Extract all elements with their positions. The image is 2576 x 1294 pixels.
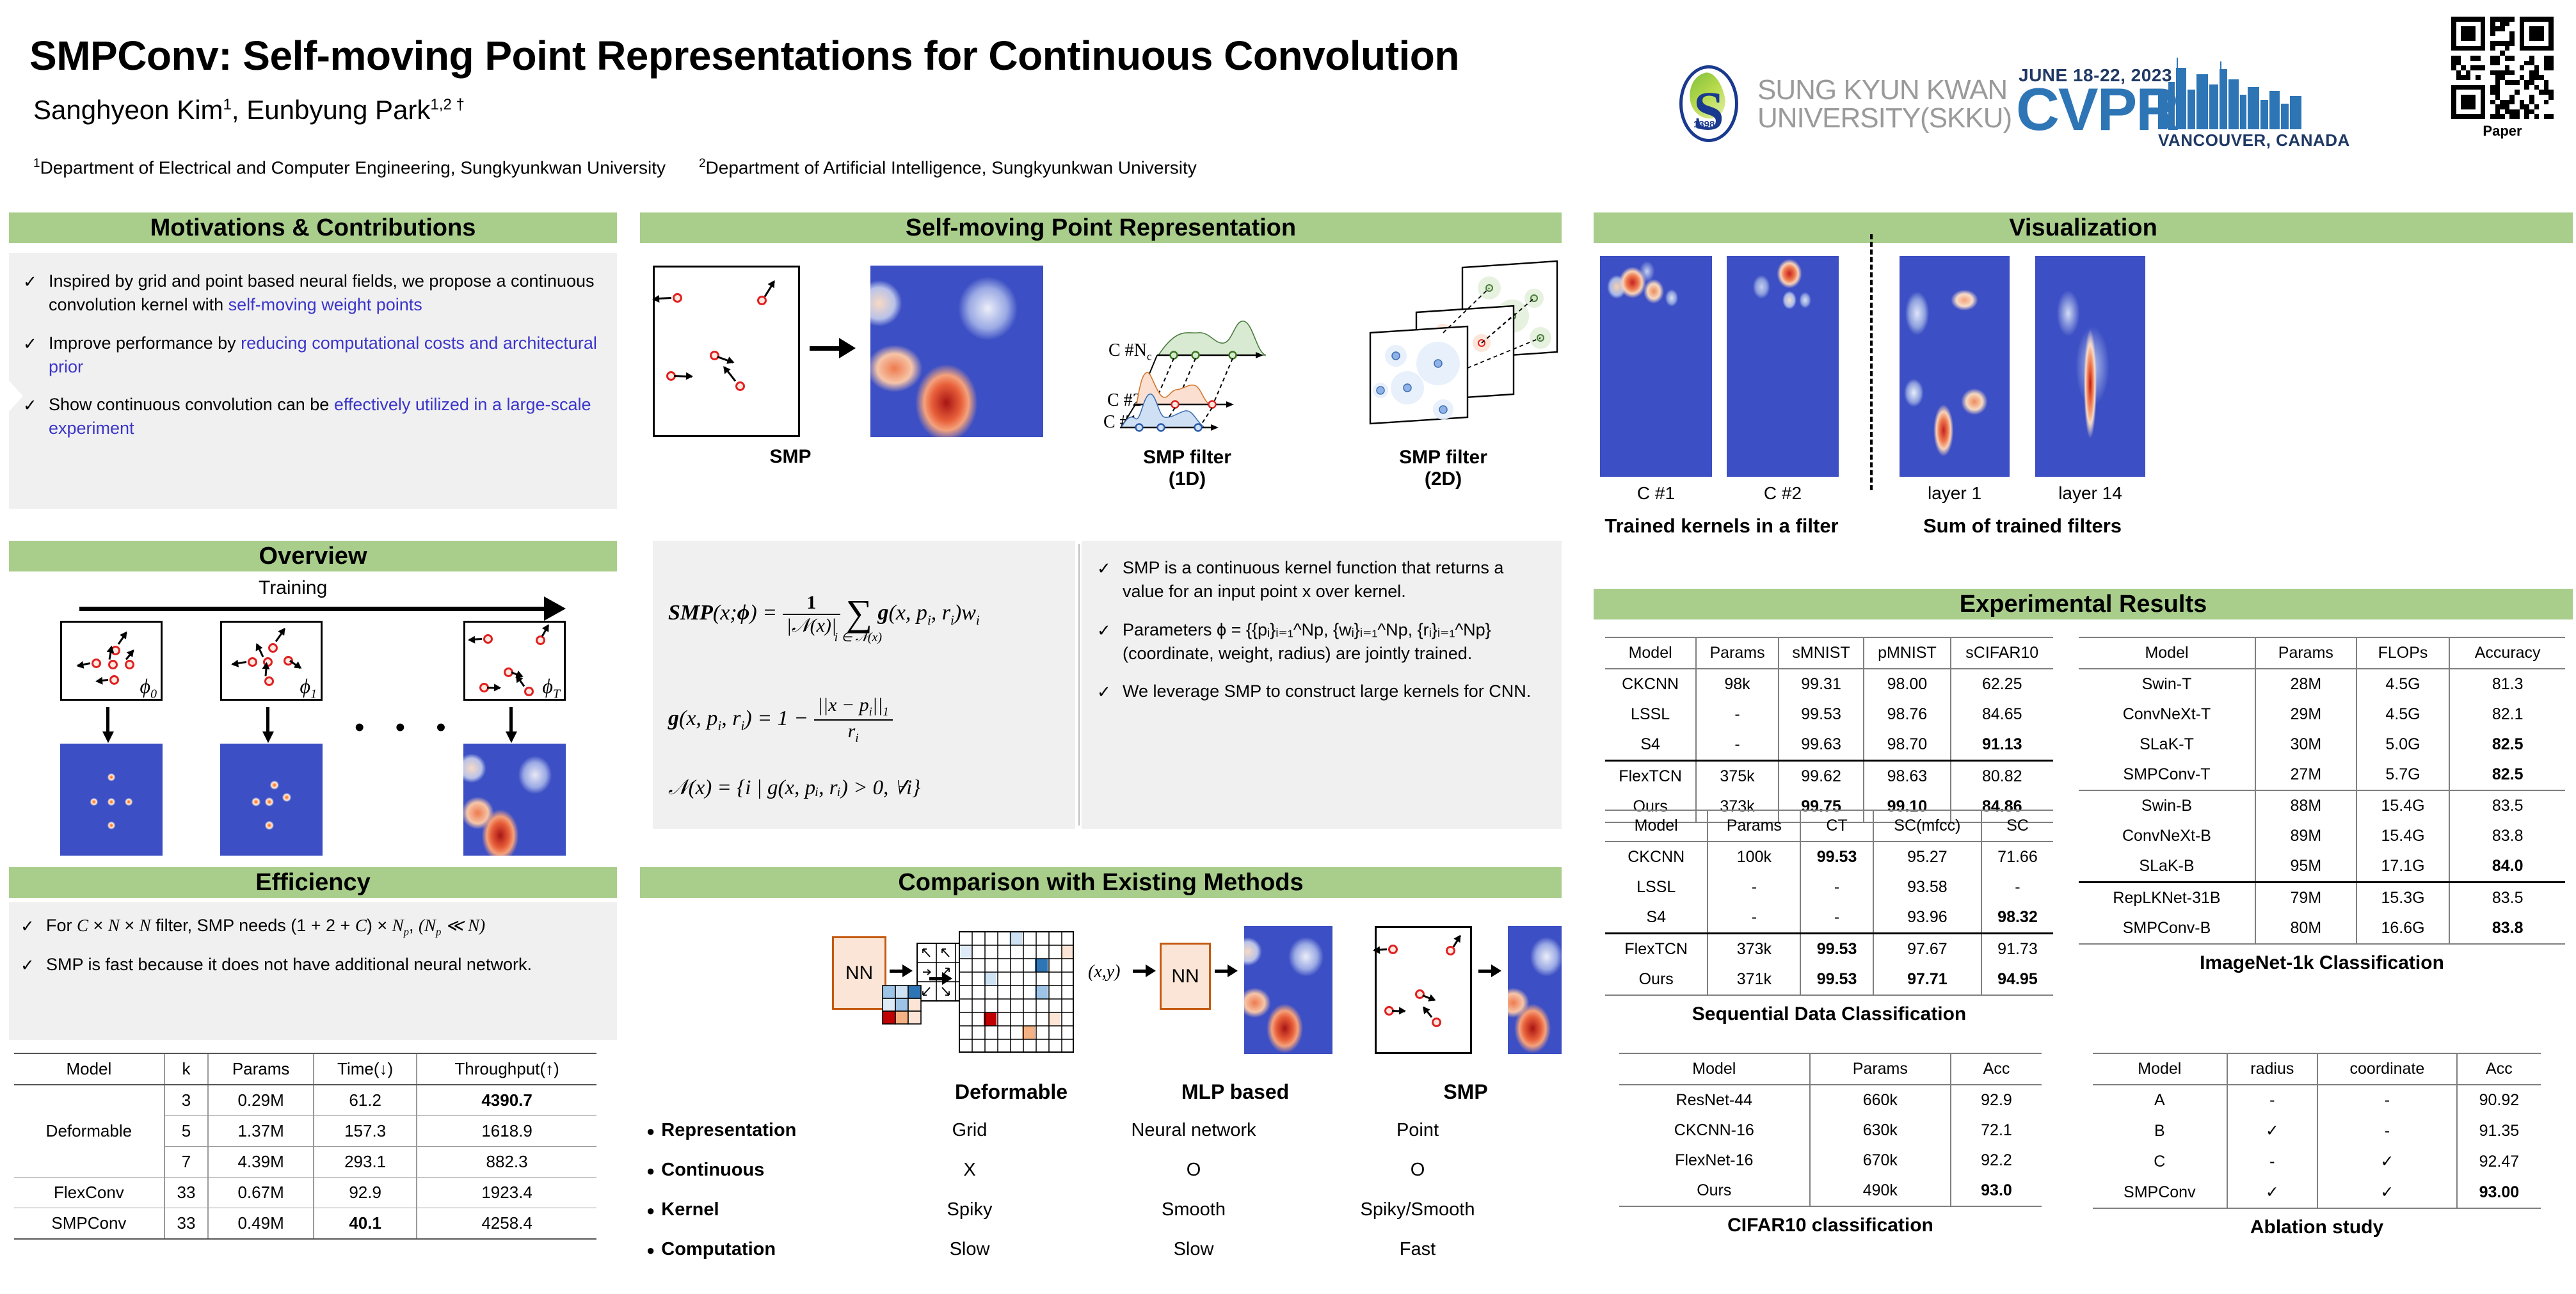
overview-points-phiT: ϕT: [463, 621, 566, 701]
table-cell: -: [1981, 872, 2053, 902]
table-header-row: ModelParamsFLOPsAccuracy: [2079, 637, 2565, 669]
checkmark-icon: ✓: [20, 914, 46, 939]
table-row: ConvNeXt-T29M4.5G82.1: [2079, 699, 2565, 730]
table-cell: 1923.4: [417, 1178, 596, 1208]
comparison-cell: Slow: [1082, 1239, 1306, 1260]
viz-kernel-c2: [1727, 256, 1839, 477]
cvpr-location: VANCOUVER, CANADA: [2158, 131, 2350, 150]
viz-caption-left: Trained kernels in a filter: [1594, 515, 1850, 538]
table-cell: -: [1696, 730, 1779, 761]
deformable-weight-grid-icon: [882, 985, 922, 1025]
table-cell: 157.3: [314, 1116, 417, 1147]
table-cell: 5: [164, 1116, 208, 1147]
checkmark-icon: ✓: [1097, 680, 1123, 704]
smp-bullet: ✓Parameters ϕ = {{pᵢ}ᵢ₌₁^Np, {wᵢ}ᵢ₌₁^Np,…: [1097, 618, 1546, 666]
author-2: , Eunbyung Park: [232, 95, 431, 125]
table-cell: SMPConv-T: [2079, 760, 2255, 790]
viz-label-c1: C #1: [1600, 483, 1712, 504]
table-row: Ours490k93.0: [1619, 1176, 2042, 1206]
section-header-efficiency: Efficiency: [9, 867, 617, 898]
smp-filter-1d-figure: C #Nc C #2 C #1 SMP filter (1D): [1107, 262, 1357, 474]
overview-kernel-phiT: [463, 744, 566, 856]
table-row: RepLKNet-31B79M15.3G83.5: [2079, 883, 2565, 914]
cifar-table-wrap: ModelParamsAcc ResNet-44660k92.9CKCNN-16…: [1619, 1053, 2042, 1236]
table-cell: SLaK-T: [2079, 730, 2255, 760]
comparison-cell: Neural network: [1082, 1120, 1306, 1141]
smp-compare-heatmap: [1508, 926, 1562, 1054]
cifar-table-caption: CIFAR10 classification: [1619, 1215, 2042, 1236]
affiliation-1: Department of Electrical and Computer En…: [40, 157, 666, 177]
overview-arrow-2: [266, 707, 269, 734]
comparison-row: ●ContinuousXOO: [646, 1150, 1562, 1190]
seq-table-2: ModelParamsCTSC(mfcc)SC CKCNN100k99.5395…: [1605, 810, 2053, 996]
table-cell: 100k: [1708, 842, 1800, 872]
table-row: ConvNeXt-B89M15.4G83.8: [2079, 821, 2565, 851]
table-cell: FlexConv: [14, 1178, 164, 1208]
table-header-cell: Params: [1696, 637, 1779, 669]
table-cell: 94.95: [1981, 964, 2053, 995]
table-cell: 83.5: [2449, 883, 2565, 914]
efficiency-table-wrap: ModelkParamsTime(↓)Throughput(↑) Deforma…: [14, 1053, 596, 1240]
ablation-table: ModelradiuscoordinateAcc A--90.92B✓-91.3…: [2093, 1053, 2541, 1209]
table-header-cell: Model: [14, 1053, 164, 1085]
table-cell: ✓: [2317, 1146, 2457, 1177]
overview-kernel-phi0: [60, 744, 163, 856]
table-cell: 882.3: [417, 1147, 596, 1178]
formula-divider: [1078, 544, 1080, 826]
comparison-cell: O: [1306, 1160, 1530, 1181]
table-cell: 30M: [2255, 730, 2356, 760]
comparison-row: ●ComputationSlowSlowFast: [646, 1229, 1562, 1269]
mlp-nn-box: NN: [1160, 943, 1211, 1010]
table-header-cell: Accuracy: [2449, 637, 2565, 669]
overview-kernel-phi1: [220, 744, 323, 856]
table-cell: 15.4G: [2356, 790, 2450, 821]
table-header-cell: Model: [2079, 637, 2255, 669]
equation-neighborhood: 𝒩(x) = {i | g(x, pᵢ, rᵢ) > 0, ∀i}: [668, 776, 920, 800]
imagenet-table: ModelParamsFLOPsAccuracy Swin-T28M4.5G81…: [2079, 637, 2565, 945]
comparison-cell: X: [858, 1160, 1082, 1181]
table-cell: CKCNN: [1605, 842, 1708, 872]
table-cell: 17.1G: [2356, 851, 2450, 883]
comparison-cell: Grid: [858, 1120, 1082, 1141]
section-header-overview: Overview: [9, 541, 617, 571]
table-cell: 490k: [1810, 1176, 1951, 1206]
table-cell: 1618.9: [417, 1116, 596, 1147]
efficiency-table: ModelkParamsTime(↓)Throughput(↑) Deforma…: [14, 1053, 596, 1240]
efficiency-bullet: ✓ SMP is fast because it does not have a…: [20, 953, 605, 977]
table-cell: 82.1: [2449, 699, 2565, 730]
ablation-table-caption: Ablation study: [2093, 1217, 2541, 1238]
table-cell: 72.1: [1951, 1115, 2042, 1146]
overview-points-phi0: ϕ0: [60, 621, 163, 701]
smp-filter-2d-label-1: SMP filter: [1360, 447, 1526, 468]
checkmark-icon: ✓: [1097, 618, 1123, 666]
efficiency-bullet-text: SMP is fast because it does not have add…: [46, 953, 605, 977]
checkmark-icon: ✓: [20, 953, 46, 977]
skku-name-line2: UNIVERSITY(SKKU): [1757, 104, 2012, 132]
skku-s-glyph: S: [1693, 83, 1724, 138]
table-cell: 79M: [2255, 883, 2356, 914]
section-header-experimental: Experimental Results: [1594, 589, 2573, 619]
comparison-matrix: ●RepresentationGridNeural networkPoint●C…: [646, 1110, 1562, 1269]
table-body: A--90.92B✓-91.35C-✓92.47SMPConv✓✓93.00: [2093, 1085, 2541, 1208]
table-cell: -: [2227, 1146, 2317, 1177]
qr-code-icon[interactable]: [2451, 17, 2554, 119]
table-header-cell: Model: [1619, 1053, 1810, 1085]
table-header-cell: Acc: [2457, 1053, 2541, 1085]
section-header-motivations: Motivations & Contributions: [9, 212, 617, 243]
table-cell: -: [2317, 1085, 2457, 1115]
table-header-cell: k: [164, 1053, 208, 1085]
table-cell: SLaK-B: [2079, 851, 2255, 883]
section-header-smp-representation: Self-moving Point Representation: [640, 212, 1562, 243]
table-cell: SMPConv-B: [2079, 913, 2255, 944]
comparison-cell: O: [1082, 1160, 1306, 1181]
viz-sum-layer1: [1900, 256, 2010, 477]
overview-ellipsis: • • •: [355, 712, 458, 744]
smp-filter-2d-figure: SMP filter (2D): [1354, 256, 1565, 474]
table-cell: SMPConv: [2093, 1177, 2227, 1208]
table-header-cell: CT: [1800, 810, 1873, 842]
table-cell: 98.32: [1981, 902, 2053, 934]
table-row: LSSL--93.58-: [1605, 872, 2053, 902]
table-header-cell: SC(mfcc): [1873, 810, 1981, 842]
table-cell: 16.6G: [2356, 913, 2450, 944]
smp-kernel-heatmap: [870, 266, 1043, 437]
smp-flow-arrow: [810, 346, 840, 351]
table-cell: 98.00: [1864, 669, 1950, 699]
table-row: CKCNN98k99.3198.0062.25: [1605, 669, 2053, 699]
skku-emblem-icon: S 1398: [1670, 64, 1747, 144]
motivations-box: ✓Inspired by grid and point based neural…: [9, 253, 617, 509]
paper-qr-block[interactable]: Paper: [2451, 17, 2554, 140]
table-cell: 82.5: [2449, 730, 2565, 760]
table-cell: 29M: [2255, 699, 2356, 730]
table-cell: 92.9: [1951, 1085, 2042, 1115]
table-cell: FlexTCN: [1605, 934, 1708, 965]
table-cell: 98.76: [1864, 699, 1950, 730]
table-body: Swin-T28M4.5G81.3ConvNeXt-T29M4.5G82.1SL…: [2079, 669, 2565, 944]
visualization-figures: C #1 C #2 layer 1 layer 14 Trained kerne…: [1594, 256, 2573, 550]
checkmark-icon: ✓: [23, 269, 49, 317]
motivation-bullet: ✓Show continuous convolution can be effe…: [23, 393, 603, 441]
table-cell: 3: [164, 1085, 208, 1116]
formula-panel: SMP(x;ϕ) = 1 |𝒩(x)| ∑ i ∈ 𝒩(x) g(x, pi, …: [653, 541, 1075, 829]
table-cell: Ours: [1605, 964, 1708, 995]
table-cell: 15.4G: [2356, 821, 2450, 851]
table-cell: RepLKNet-31B: [2079, 883, 2255, 914]
table-cell: 33: [164, 1178, 208, 1208]
table-cell: 84.65: [1951, 699, 2053, 730]
table-cell: 93.0: [1951, 1176, 2042, 1206]
table-cell: FlexNet-16: [1619, 1146, 1810, 1176]
page-title: SMPConv: Self-moving Point Representatio…: [29, 32, 1459, 79]
table-row: CKCNN100k99.5395.2771.66: [1605, 842, 2053, 872]
table-cell: 97.71: [1873, 964, 1981, 995]
qr-caption: Paper: [2451, 123, 2554, 140]
table-cell: 89M: [2255, 821, 2356, 851]
table-cell: 61.2: [314, 1085, 417, 1116]
seq-table-2-wrap: ModelParamsCTSC(mfcc)SC CKCNN100k99.5395…: [1605, 810, 2053, 1025]
comparison-col-label-smp: SMP: [1370, 1080, 1562, 1104]
table-row: S4-99.6398.7091.13: [1605, 730, 2053, 761]
equation-smp: SMP(x;ϕ) = 1 |𝒩(x)| ∑ i ∈ 𝒩(x) g(x, pi, …: [668, 592, 980, 637]
checkmark-icon: ✓: [23, 331, 49, 379]
smp-bullet-list: ✓SMP is a continuous kernel function tha…: [1082, 541, 1562, 719]
table-row: Swin-T28M4.5G81.3: [2079, 669, 2565, 699]
table-cell: 660k: [1810, 1085, 1951, 1115]
viz-label-layer14: layer 14: [2035, 483, 2145, 504]
table-row: Swin-B88M15.4G83.5: [2079, 790, 2565, 821]
table-header-row: ModelParamsAcc: [1619, 1053, 2042, 1085]
table-cell: B: [2093, 1115, 2227, 1146]
table-cell: 98.63: [1864, 761, 1950, 792]
table-header-cell: Throughput(↑): [417, 1053, 596, 1085]
table-cell: 93.96: [1873, 902, 1981, 934]
table-cell: LSSL: [1605, 872, 1708, 902]
smp-1d-curves: [1107, 262, 1357, 454]
table-cell: 95M: [2255, 851, 2356, 883]
comparison-cell: Spiky: [858, 1199, 1082, 1220]
table-cell: 83.5: [2449, 790, 2565, 821]
mlp-kernel-heatmap: [1244, 926, 1332, 1054]
table-row: LSSL-99.5398.7684.65: [1605, 699, 2053, 730]
table-cell: 99.53: [1800, 842, 1873, 872]
comparison-row-label: ●Representation: [646, 1120, 858, 1141]
table-cell: 375k: [1696, 761, 1779, 792]
table-row: S4--93.9698.32: [1605, 902, 2053, 934]
table-row: CKCNN-16630k72.1: [1619, 1115, 2042, 1146]
table-cell: Deformable: [14, 1085, 164, 1178]
table-cell: ConvNeXt-T: [2079, 699, 2255, 730]
comparison-row: ●RepresentationGridNeural networkPoint: [646, 1110, 1562, 1150]
table-cell: 84.0: [2449, 851, 2565, 883]
mlp-xy-label: (x,y): [1088, 962, 1121, 982]
table-cell: 15.3G: [2356, 883, 2450, 914]
table-header-row: ModelradiuscoordinateAcc: [2093, 1053, 2541, 1085]
table-cell: 81.3: [2449, 669, 2565, 699]
smp-filter-1d-label-1: SMP filter: [1107, 447, 1267, 468]
cvpr-wordmark: CVPR: [2016, 79, 2178, 140]
table-cell: S4: [1605, 730, 1696, 761]
table-cell: 80.82: [1951, 761, 2053, 792]
author-1-affil: 1: [223, 96, 232, 113]
table-row: C-✓92.47: [2093, 1146, 2541, 1177]
comparison-col-label-deformable: Deformable: [915, 1080, 1107, 1104]
table-cell: ✓: [2227, 1177, 2317, 1208]
table-cell: ✓: [2317, 1177, 2457, 1208]
viz-label-layer1: layer 1: [1900, 483, 2010, 504]
smp-properties-panel: ✓SMP is a continuous kernel function tha…: [1082, 541, 1562, 829]
checkmark-icon: ✓: [23, 393, 49, 441]
table-cell: CKCNN-16: [1619, 1115, 1810, 1146]
table-row: FlexNet-16670k92.2: [1619, 1146, 2042, 1176]
table-cell: -: [1696, 699, 1779, 730]
table-body: ResNet-44660k92.9CKCNN-16630k72.1FlexNet…: [1619, 1085, 2042, 1206]
table-cell: CKCNN: [1605, 669, 1696, 699]
comparison-row-label: ●Kernel: [646, 1199, 858, 1220]
table-header-cell: radius: [2227, 1053, 2317, 1085]
table-cell: 83.8: [2449, 913, 2565, 944]
table-cell: 91.13: [1951, 730, 2053, 761]
table-row: FlexConv330.67M92.91923.4: [14, 1178, 596, 1208]
comparison-cell: Point: [1306, 1120, 1530, 1141]
smp-filter-2d-label-2: (2D): [1360, 468, 1526, 490]
table-cell: 1.37M: [208, 1116, 314, 1147]
affil-2-marker: 2: [699, 157, 706, 170]
table-cell: 99.53: [1779, 699, 1864, 730]
table-row: SLaK-B95M17.1G84.0: [2079, 851, 2565, 883]
imagenet-table-caption: ImageNet-1k Classification: [2079, 952, 2565, 974]
table-body: CKCNN100k99.5395.2771.66LSSL--93.58-S4--…: [1605, 842, 2053, 995]
table-cell: 71.66: [1981, 842, 2053, 872]
affiliations-line: 1Department of Electrical and Computer E…: [33, 157, 1197, 178]
table-cell: 4258.4: [417, 1208, 596, 1240]
table-cell: 99.53: [1800, 964, 1873, 995]
table-header-cell: Model: [2093, 1053, 2227, 1085]
section-header-visualization: Visualization: [1594, 212, 2573, 243]
table-row: Deformable30.29M61.24390.7: [14, 1085, 596, 1116]
smp-compare-points: [1375, 926, 1472, 1054]
skku-name-line1: SUNG KYUN KWAN: [1757, 76, 2012, 104]
table-row: SMPConv-B80M16.6G83.8: [2079, 913, 2565, 944]
table-header-cell: pMNIST: [1864, 637, 1950, 669]
overview-figure: Training ϕ0 ϕ1 • • •: [9, 576, 617, 858]
checkmark-icon: ✓: [1097, 556, 1123, 604]
table-cell: 88M: [2255, 790, 2356, 821]
table-cell: 5.0G: [2356, 730, 2450, 760]
table-row: FlexTCN375k99.6298.6380.82: [1605, 761, 2053, 792]
affiliation-2: Department of Artificial Intelligence, S…: [706, 157, 1197, 177]
table-header-cell: coordinate: [2317, 1053, 2457, 1085]
viz-label-c2: C #2: [1727, 483, 1839, 504]
table-cell: 0.67M: [208, 1178, 314, 1208]
table-header-cell: Params: [1708, 810, 1800, 842]
table-cell: 0.49M: [208, 1208, 314, 1240]
table-header-cell: Model: [1605, 637, 1696, 669]
smp-2d-planes: [1354, 256, 1565, 448]
table-cell: LSSL: [1605, 699, 1696, 730]
comparison-row: ●KernelSpikySmoothSpiky/Smooth: [646, 1190, 1562, 1229]
authors-line: Sanghyeon Kim1, Eunbyung Park1,2 †: [33, 95, 465, 125]
table-cell: 33: [164, 1208, 208, 1240]
table-cell: ✓: [2227, 1115, 2317, 1146]
overview-points-phi1: ϕ1: [220, 621, 323, 701]
comparison-figures: NN: [640, 906, 1562, 1072]
imagenet-table-wrap: ModelParamsFLOPsAccuracy Swin-T28M4.5G81…: [2079, 637, 2565, 974]
section-header-comparison: Comparison with Existing Methods: [640, 867, 1562, 898]
table-cell: C: [2093, 1146, 2227, 1177]
table-cell: 99.63: [1779, 730, 1864, 761]
training-arrow-label: Training: [259, 577, 327, 599]
table-cell: 4.5G: [2356, 669, 2450, 699]
table-header-cell: sCIFAR10: [1951, 637, 2053, 669]
comparison-row-label: ●Computation: [646, 1239, 858, 1260]
table-cell: 4.39M: [208, 1147, 314, 1178]
author-1: Sanghyeon Kim: [33, 95, 223, 125]
table-row: SMPConv-T27M5.7G82.5: [2079, 760, 2565, 790]
table-cell: 93.58: [1873, 872, 1981, 902]
smp-bullet: ✓We leverage SMP to construct large kern…: [1097, 680, 1546, 704]
table-cell: 98k: [1696, 669, 1779, 699]
table-cell: 4390.7: [417, 1085, 596, 1116]
table-cell: S4: [1605, 902, 1708, 934]
table-header-cell: Params: [208, 1053, 314, 1085]
table-header-cell: Params: [1810, 1053, 1951, 1085]
table-cell: -: [1800, 902, 1873, 934]
table-header-cell: sMNIST: [1779, 637, 1864, 669]
table-cell: Swin-T: [2079, 669, 2255, 699]
table-row: SMPConv✓✓93.00: [2093, 1177, 2541, 1208]
comparison-cell: Spiky/Smooth: [1306, 1199, 1530, 1220]
efficiency-box: ✓ For C × N × N filter, SMP needs (1 + 2…: [9, 902, 617, 1040]
table-row: FlexTCN373k99.5397.6791.73: [1605, 934, 2053, 965]
table-cell: 95.27: [1873, 842, 1981, 872]
table-cell: ResNet-44: [1619, 1085, 1810, 1115]
table-header-cell: FLOPs: [2356, 637, 2450, 669]
table-header-cell: Acc: [1951, 1053, 2042, 1085]
vancouver-skyline-icon: [2156, 58, 2306, 129]
table-cell: 4.5G: [2356, 699, 2450, 730]
table-cell: 97.67: [1873, 934, 1981, 965]
table-cell: 7: [164, 1147, 208, 1178]
comparison-cell: Slow: [858, 1239, 1082, 1260]
table-cell: 83.8: [2449, 821, 2565, 851]
table-cell: 62.25: [1951, 669, 2053, 699]
table-cell: A: [2093, 1085, 2227, 1115]
table-cell: 91.35: [2457, 1115, 2541, 1146]
affil-1-marker: 1: [33, 157, 40, 170]
smp-filter-1d-label-2: (1D): [1107, 468, 1267, 490]
table-cell: 92.2: [1951, 1146, 2042, 1176]
table-cell: Ours: [1619, 1176, 1810, 1206]
table-row: A--90.92: [2093, 1085, 2541, 1115]
smp-point-canvas: [653, 266, 800, 437]
table-cell: 99.31: [1779, 669, 1864, 699]
cvpr-logo: JUNE 18-22, 2023 CVPR VANCOUVER, CANADA: [2016, 52, 2310, 148]
table-cell: 91.73: [1981, 934, 2053, 965]
table-row: SLaK-T30M5.0G82.5: [2079, 730, 2565, 760]
table-header-cell: Model: [1605, 810, 1708, 842]
comparison-col-label-mlp: MLP based: [1139, 1080, 1331, 1104]
comparison-row-label: ●Continuous: [646, 1160, 858, 1181]
table-cell: 92.9: [314, 1178, 417, 1208]
overview-arrow-3: [509, 707, 513, 734]
table-cell: 80M: [2255, 913, 2356, 944]
table-cell: 28M: [2255, 669, 2356, 699]
table-cell: 98.70: [1864, 730, 1950, 761]
table-cell: 293.1: [314, 1147, 417, 1178]
motivation-bullet: ✓Improve performance by reducing computa…: [23, 331, 603, 379]
table-header-cell: Time(↓): [314, 1053, 417, 1085]
table-cell: 27M: [2255, 760, 2356, 790]
smp-concept-figure: SMP: [653, 266, 1062, 470]
efficiency-bullet-list: ✓ For C × N × N filter, SMP needs (1 + 2…: [9, 902, 617, 989]
seq-table-1: ModelParamssMNISTpMNISTsCIFAR10 CKCNN98k…: [1605, 637, 2053, 823]
comparison-cell: Smooth: [1082, 1199, 1306, 1220]
table-cell: ConvNeXt-B: [2079, 821, 2255, 851]
table-cell: FlexTCN: [1605, 761, 1696, 792]
table-cell: -: [2317, 1115, 2457, 1146]
table-cell: 40.1: [314, 1208, 417, 1240]
deformable-large-grid-icon: [959, 931, 1074, 1053]
table-row: Ours371k99.5397.7194.95: [1605, 964, 2053, 995]
table-body: CKCNN98k99.3198.0062.25LSSL-99.5398.7684…: [1605, 669, 2053, 822]
seq-table-1-wrap: ModelParamssMNISTpMNISTsCIFAR10 CKCNN98k…: [1605, 637, 2053, 823]
table-cell: 99.53: [1800, 934, 1873, 965]
table-cell: 93.00: [2457, 1177, 2541, 1208]
